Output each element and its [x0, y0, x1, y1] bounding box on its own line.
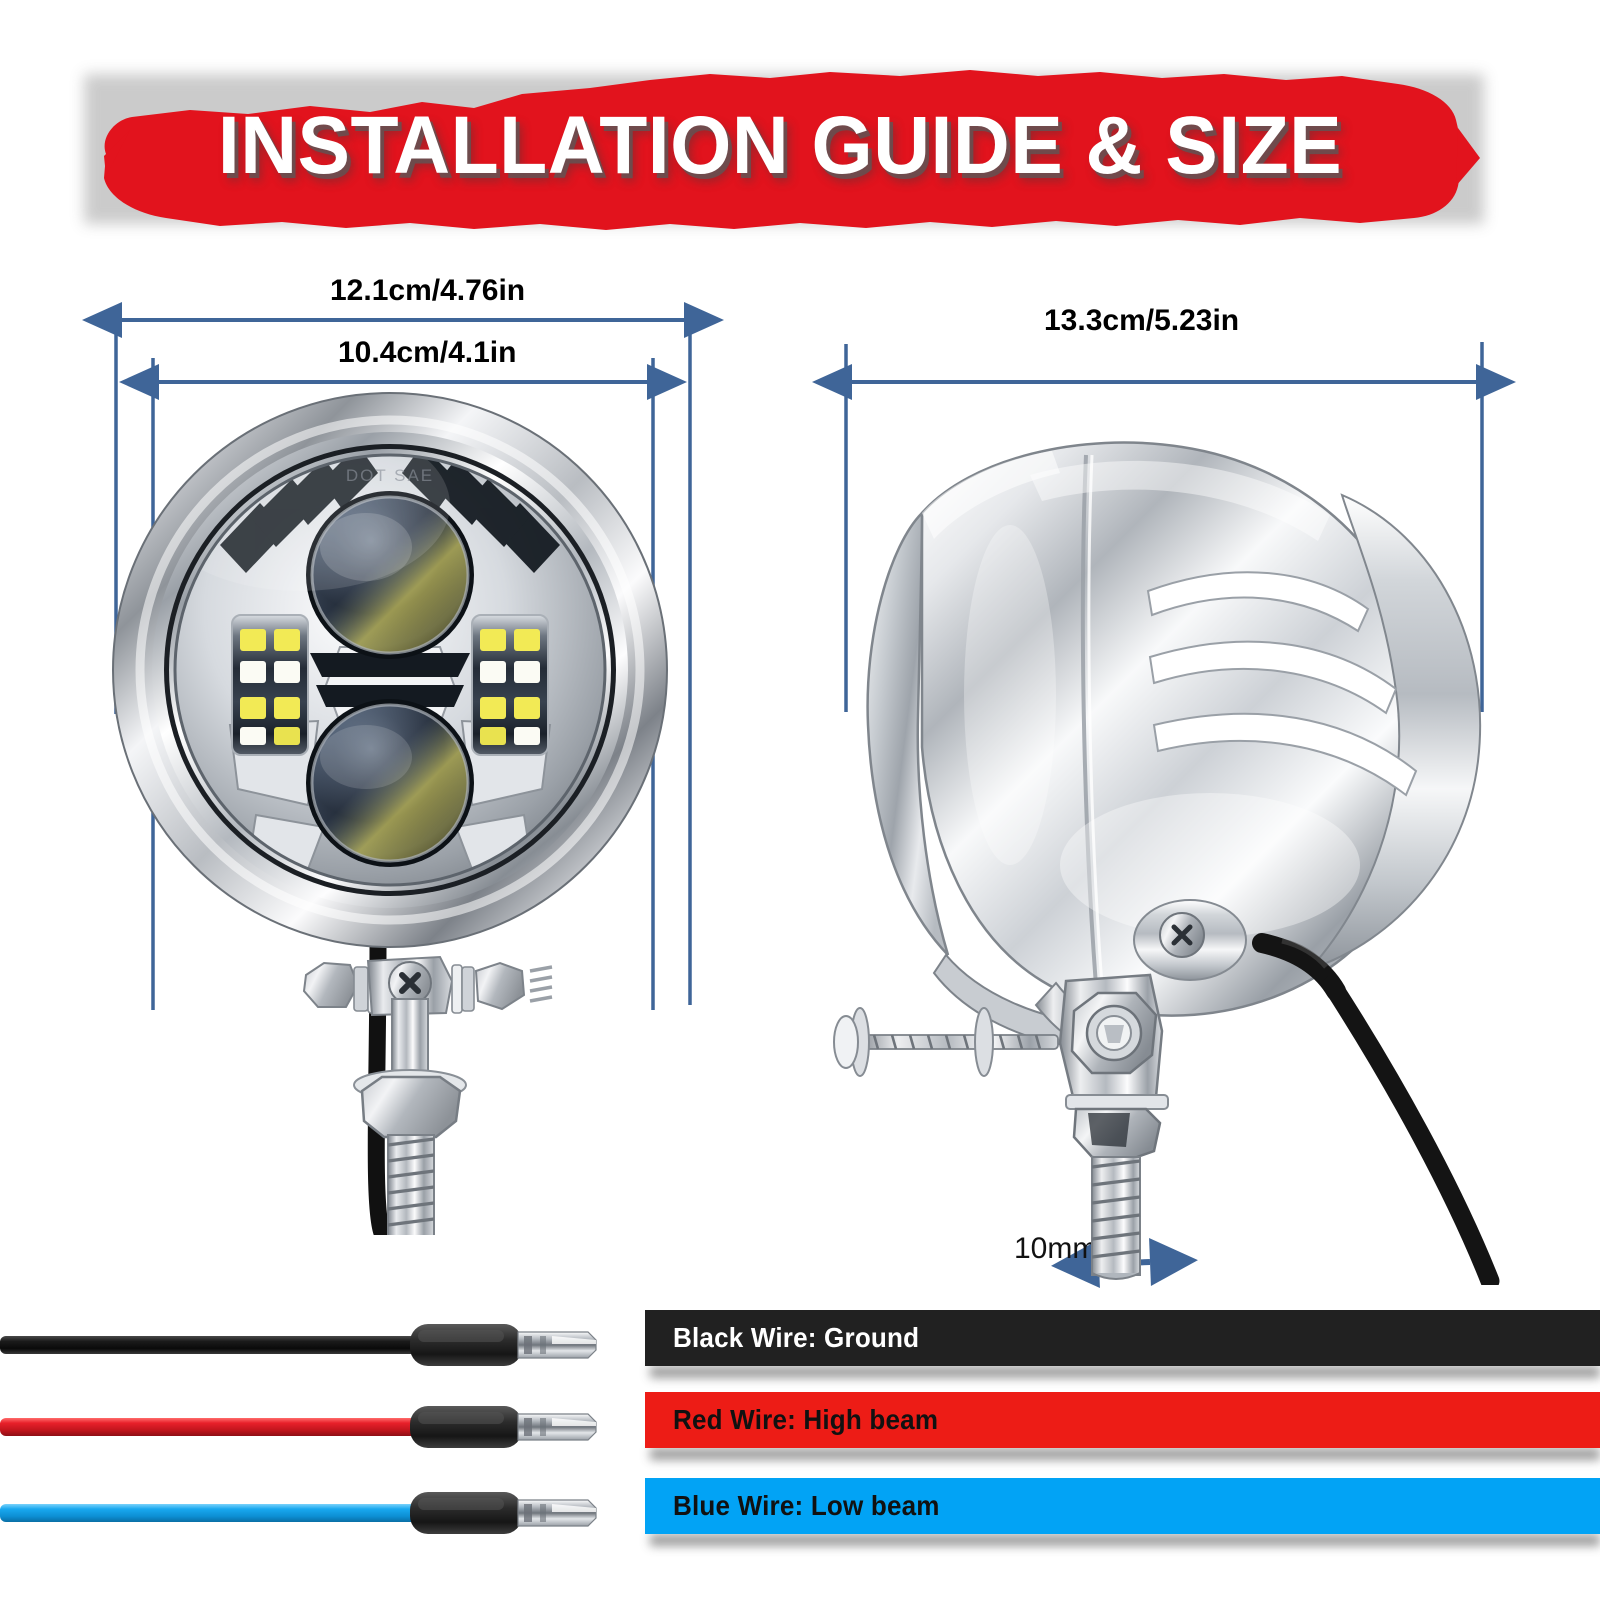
- black-wire-graphic: [0, 1310, 660, 1380]
- red-wire-graphic: [0, 1392, 660, 1462]
- installation-guide-page: INSTALLATION GUIDE & SIZE: [0, 0, 1600, 1600]
- red-wire-row: Red Wire: High beam: [0, 1392, 1600, 1462]
- red-wire-label: Red Wire: High beam: [673, 1404, 938, 1436]
- blue-wire-label: Blue Wire: Low beam: [673, 1490, 940, 1522]
- red-bar-shadow: [650, 1448, 1600, 1460]
- page-title: INSTALLATION GUIDE & SIZE: [98, 58, 1461, 233]
- black-wire-bar: Black Wire: Ground: [645, 1310, 1600, 1366]
- front-outer-dimension-label: 12.1cm/4.76in: [330, 274, 525, 308]
- title-banner: INSTALLATION GUIDE & SIZE: [70, 58, 1490, 233]
- blue-bar-shadow: [650, 1534, 1600, 1546]
- black-wire-row: Black Wire: Ground: [0, 1310, 1600, 1380]
- side-view-product: [830, 395, 1530, 1285]
- front-inner-dimension-label: 10.4cm/4.1in: [338, 336, 516, 370]
- blue-wire-bar: Blue Wire: Low beam: [645, 1478, 1600, 1534]
- black-bar-shadow: [650, 1366, 1600, 1378]
- side-depth-dimension-label: 13.3cm/5.23in: [1044, 304, 1239, 338]
- blue-wire-graphic: [0, 1478, 660, 1548]
- black-wire-label: Black Wire: Ground: [673, 1322, 919, 1354]
- red-wire-bar: Red Wire: High beam: [645, 1392, 1600, 1448]
- blue-wire-row: Blue Wire: Low beam: [0, 1478, 1600, 1548]
- front-view-product: DOT SAE: [110, 385, 710, 1235]
